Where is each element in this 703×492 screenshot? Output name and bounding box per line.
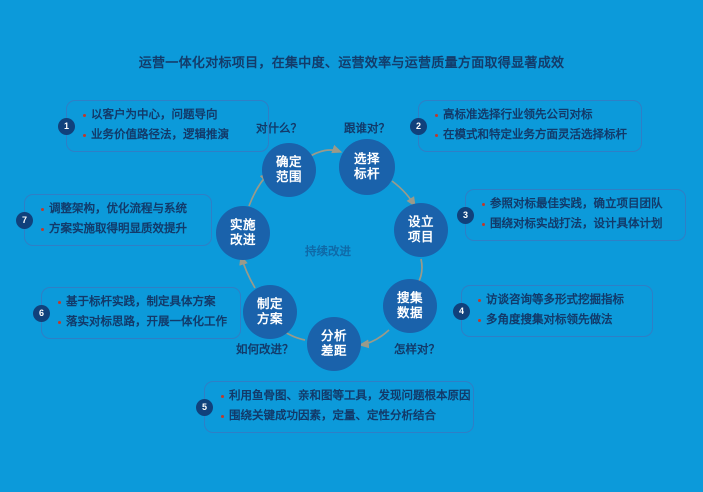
arrow-plan-to-implement (241, 256, 255, 288)
callout-3-line-2: 围绕对标实战打法，设计具体计划 (482, 215, 675, 235)
callout-1-line-1: 以客户为中心，问题导向 (83, 106, 258, 126)
circle-plan-line1: 制定 (257, 297, 283, 312)
callout-7-line-1: 调整架构，优化流程与系统 (41, 200, 201, 220)
circle-benchmark-line2: 标杆 (354, 167, 380, 182)
callout-5-badge: 5 (196, 399, 213, 416)
callout-box-1[interactable]: 以客户为中心，问题导向 业务价值路径法，逻辑推演 (66, 100, 269, 152)
callout-2-line-1: 高标准选择行业领先公司对标 (435, 106, 631, 126)
circle-implement-line2: 改进 (230, 233, 256, 248)
circle-project-line2: 项目 (408, 230, 434, 245)
callout-5-line-1: 利用鱼骨图、亲和图等工具，发现问题根本原因 (221, 387, 463, 407)
circle-analyze-line2: 差距 (321, 344, 347, 359)
callout-4-line-1: 访谈咨询等多形式挖掘指标 (478, 291, 642, 311)
callout-7-badge: 7 (16, 212, 33, 229)
callout-4-line-2: 多角度搜集对标领先做法 (478, 311, 642, 331)
callout-box-7[interactable]: 调整架构，优化流程与系统 方案实施取得明显质效提升 (24, 194, 212, 246)
callout-2-line-2: 在模式和特定业务方面灵活选择标杆 (435, 126, 631, 146)
callout-6-badge: 6 (33, 305, 50, 322)
question-label-how-compare: 怎样对？ (394, 341, 440, 357)
circle-project-line1: 设立 (408, 215, 434, 230)
arrow-collect-to-analyze (360, 330, 389, 345)
callout-3-line-1: 参照对标最佳实践，确立项目团队 (482, 195, 675, 215)
callout-3-badge: 3 (457, 207, 474, 224)
circle-plan[interactable]: 制定 方案 (243, 285, 297, 339)
circle-scope-line1: 确定 (276, 155, 302, 170)
question-label-who: 跟谁对？ (344, 120, 390, 136)
circle-scope[interactable]: 确定 范围 (262, 143, 316, 197)
callout-6-line-1: 基于标杆实践，制定具体方案 (58, 293, 230, 313)
callout-box-3[interactable]: 参照对标最佳实践，确立项目团队 围绕对标实战打法，设计具体计划 (465, 189, 686, 241)
circle-project[interactable]: 设立 项目 (394, 203, 448, 257)
callout-box-4[interactable]: 访谈咨询等多形式挖掘指标 多角度搜集对标领先做法 (461, 285, 653, 337)
circle-plan-line2: 方案 (257, 312, 283, 327)
circle-analyze[interactable]: 分析 差距 (307, 317, 361, 371)
circle-implement-line1: 实施 (230, 218, 256, 233)
circle-benchmark[interactable]: 选择 标杆 (339, 139, 395, 195)
circle-scope-line2: 范围 (276, 170, 302, 185)
arrow-benchmark-to-project (392, 181, 415, 206)
callout-box-6[interactable]: 基于标杆实践，制定具体方案 落实对标思路，开展一体化工作 (41, 287, 241, 339)
circle-analyze-line1: 分析 (321, 329, 347, 344)
callout-1-line-2: 业务价值路径法，逻辑推演 (83, 126, 258, 146)
circle-collect[interactable]: 搜集 数据 (383, 279, 437, 333)
circle-collect-line2: 数据 (397, 306, 423, 321)
callout-4-badge: 4 (453, 303, 470, 320)
center-label: 持续改进 (305, 243, 351, 259)
callout-box-2[interactable]: 高标准选择行业领先公司对标 在模式和特定业务方面灵活选择标杆 (418, 100, 642, 152)
diagram-canvas: 运营一体化对标项目，在集中度、运营效率与运营质量方面取得显著成效 (0, 0, 703, 492)
page-title: 运营一体化对标项目，在集中度、运营效率与运营质量方面取得显著成效 (0, 52, 703, 71)
circle-implement[interactable]: 实施 改进 (216, 206, 270, 260)
callout-6-line-2: 落实对标思路，开展一体化工作 (58, 313, 230, 333)
callout-2-badge: 2 (410, 118, 427, 135)
callout-box-5[interactable]: 利用鱼骨图、亲和图等工具，发现问题根本原因 围绕关键成功因素，定量、定性分析结合 (204, 381, 474, 433)
circle-collect-line1: 搜集 (397, 291, 423, 306)
callout-5-line-2: 围绕关键成功因素，定量、定性分析结合 (221, 407, 463, 427)
circle-benchmark-line1: 选择 (354, 152, 380, 167)
question-label-how-improve: 如何改进？ (236, 341, 294, 357)
callout-7-line-2: 方案实施取得明显质效提升 (41, 220, 201, 240)
callout-1-badge: 1 (58, 118, 75, 135)
